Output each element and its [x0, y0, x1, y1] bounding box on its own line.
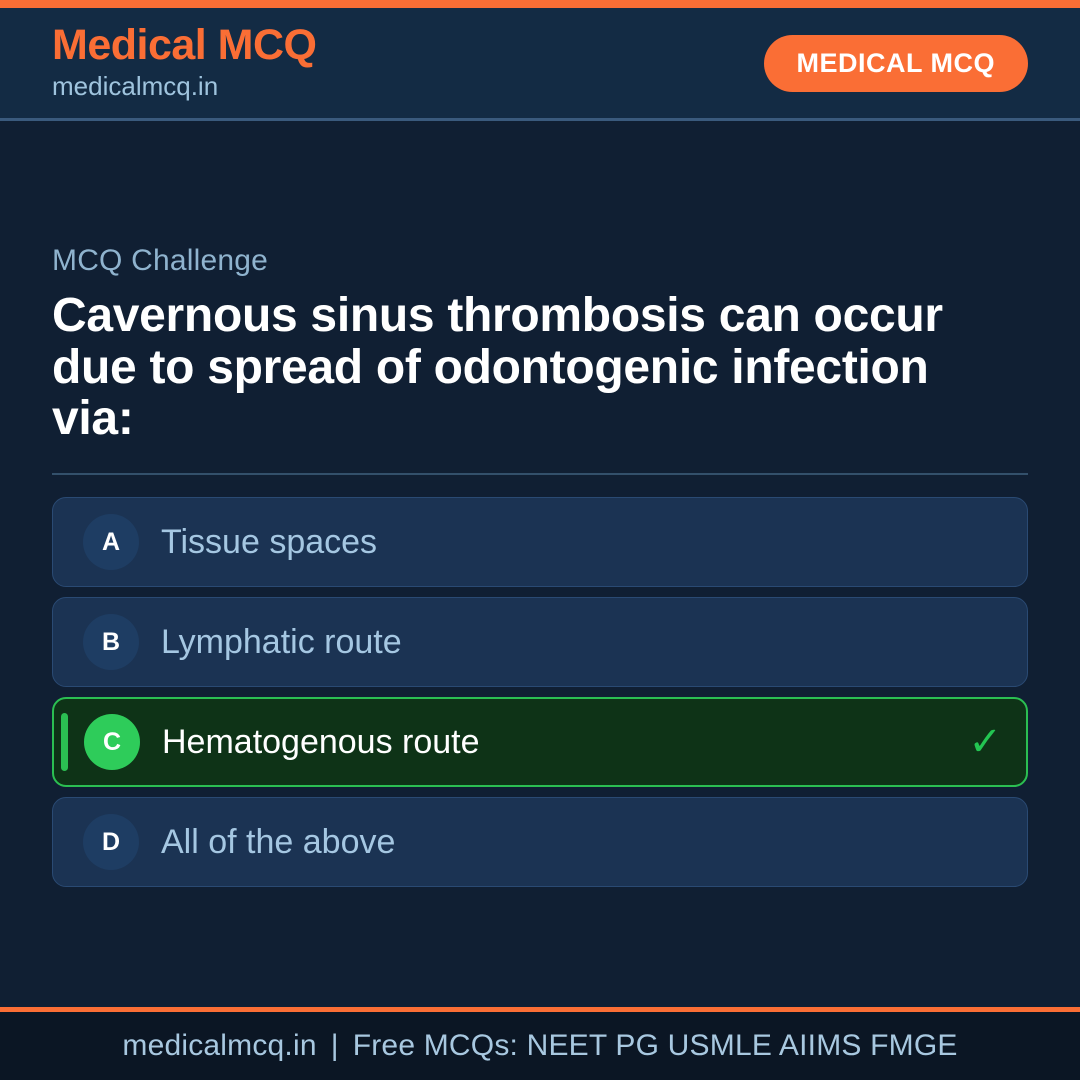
footer-separator: | — [317, 1029, 353, 1063]
option-letter-badge-d: D — [83, 814, 139, 870]
page-header: Medical MCQ medicalmcq.in MEDICAL MCQ — [0, 8, 1080, 121]
check-icon-c: ✓ — [968, 722, 1002, 762]
question-text: Cavernous sinus thrombosis can occur due… — [52, 290, 992, 445]
option-row-c[interactable]: C Hematogenous route ✓ — [52, 697, 1028, 787]
footer-site: medicalmcq.in — [122, 1029, 316, 1063]
brand-title: Medical MCQ — [52, 23, 317, 68]
option-text-a: Tissue spaces — [161, 525, 377, 559]
option-row-d[interactable]: D All of the above ✓ — [52, 797, 1028, 887]
option-text-b: Lymphatic route — [161, 625, 402, 659]
kicker-label: MCQ Challenge — [52, 244, 1028, 278]
option-letter-badge-b: B — [83, 614, 139, 670]
brand-block: Medical MCQ medicalmcq.in — [52, 23, 317, 103]
footer-tagline: Free MCQs: NEET PG USMLE AIIMS FMGE — [353, 1029, 958, 1063]
option-text-c: Hematogenous route — [162, 725, 480, 759]
options-list: A Tissue spaces ✓ B Lymphatic route ✓ C … — [52, 497, 1028, 887]
header-badge: MEDICAL MCQ — [764, 35, 1029, 92]
question-divider — [52, 473, 1028, 475]
correct-accent-bar — [61, 713, 68, 771]
top-accent-bar — [0, 0, 1080, 8]
option-row-b[interactable]: B Lymphatic route ✓ — [52, 597, 1028, 687]
option-letter-badge-c: C — [84, 714, 140, 770]
option-row-a[interactable]: A Tissue spaces ✓ — [52, 497, 1028, 587]
brand-url: medicalmcq.in — [52, 70, 317, 103]
option-text-d: All of the above — [161, 825, 395, 859]
main-content: MCQ Challenge Cavernous sinus thrombosis… — [0, 124, 1080, 1007]
page-footer: medicalmcq.in | Free MCQs: NEET PG USMLE… — [0, 1007, 1080, 1080]
option-letter-badge-a: A — [83, 514, 139, 570]
